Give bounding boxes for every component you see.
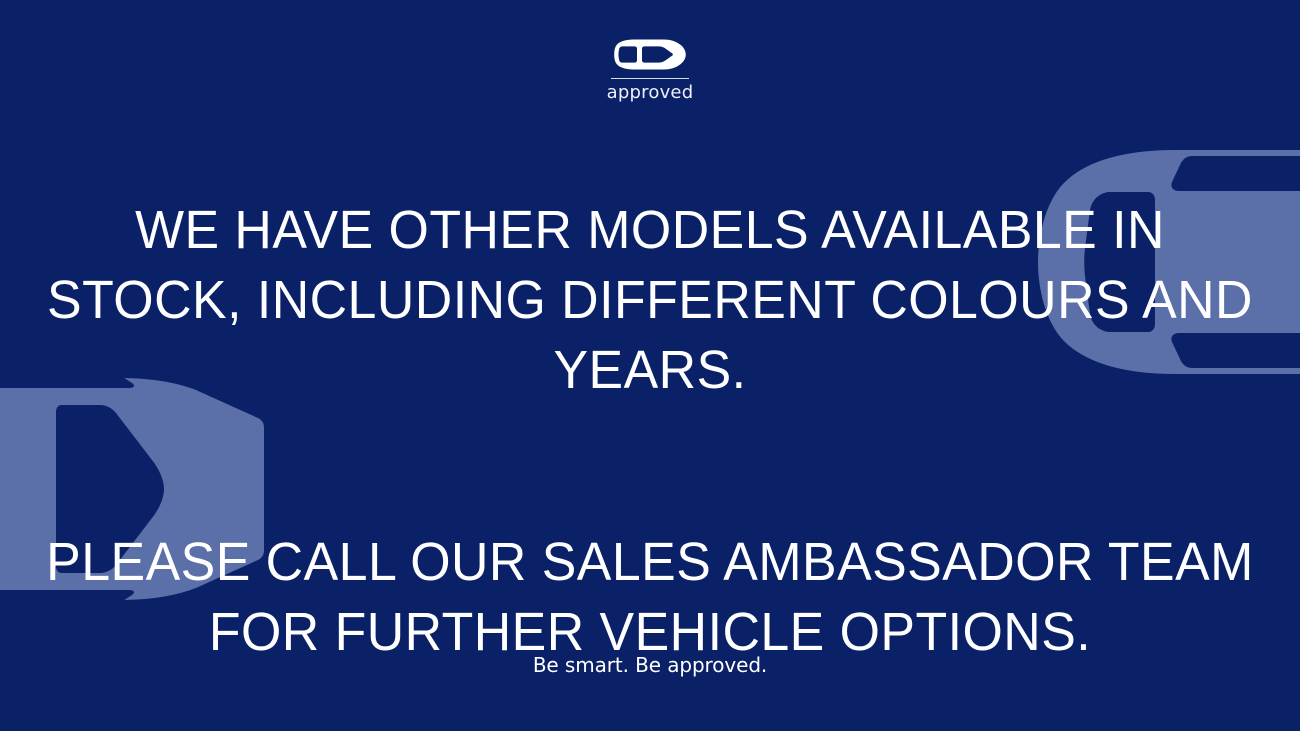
headline-line: WE HAVE OTHER MODELS AVAILABLE IN bbox=[26, 195, 1274, 265]
paragraph-two: PLEASE CALL OUR SALES AMBASSADOR TEAM FO… bbox=[0, 527, 1300, 667]
car-top-view-icon bbox=[614, 38, 686, 71]
paragraph-one: WE HAVE OTHER MODELS AVAILABLE IN STOCK,… bbox=[0, 195, 1300, 405]
tagline: Be smart. Be approved. bbox=[0, 655, 1300, 675]
promo-slide: approved WE HAVE OTHER MODELS AVAILABLE … bbox=[0, 0, 1300, 731]
brand-logo: approved bbox=[0, 38, 1300, 102]
logo-wordmark: approved bbox=[607, 84, 694, 102]
headline-line: STOCK, INCLUDING DIFFERENT COLOURS AND bbox=[26, 265, 1274, 335]
logo-divider bbox=[611, 78, 689, 79]
headline-line: YEARS. bbox=[26, 335, 1274, 405]
message-copy: WE HAVE OTHER MODELS AVAILABLE IN STOCK,… bbox=[0, 195, 1300, 667]
headline-line: PLEASE CALL OUR SALES AMBASSADOR TEAM bbox=[26, 527, 1274, 597]
